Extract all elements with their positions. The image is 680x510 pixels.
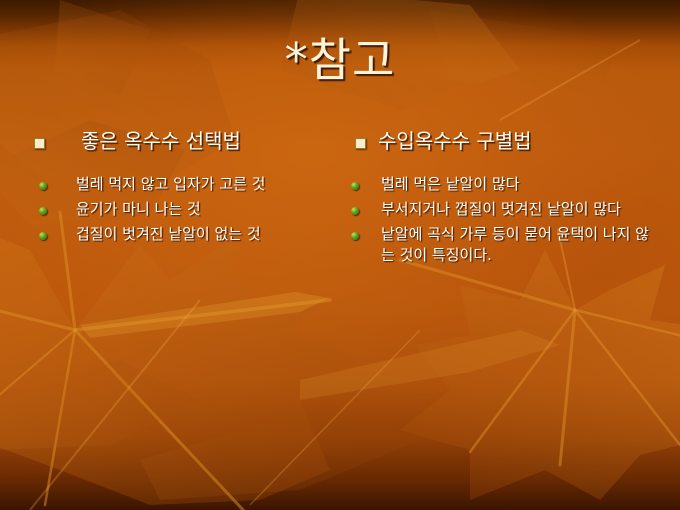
bullet-list-right: 벌레 먹은 낱알이 많다 부서지거나 껍질이 멋겨진 낱알이 많다 낱알에 곡식…: [345, 174, 657, 266]
content-column-left: 좋은 옥수수 선택법 벌레 먹지 않고 입자가 고른 것 윤기가 마니 나는 것…: [28, 126, 338, 249]
column-heading-right: 수입옥수수 구별법: [378, 126, 532, 156]
list-item-text: 벌레 먹은 낱알이 많다: [381, 174, 649, 195]
list-item: 벌레 먹은 낱알이 많다: [345, 174, 657, 195]
square-bullet-icon: [34, 138, 45, 149]
list-item-text: 낱알에 곡식 가루 등이 묻어 윤택이 나지 않는 것이 특징이다.: [381, 224, 649, 266]
column-heading-row-left: 좋은 옥수수 선택법: [28, 126, 338, 156]
list-item: 부서지거나 껍질이 멋겨진 낱알이 많다: [345, 199, 657, 220]
green-dot-bullet-icon: [39, 182, 47, 190]
green-dot-bullet-icon: [351, 232, 359, 240]
presentation-slide: *참고 좋은 옥수수 선택법 벌레 먹지 않고 입자가 고른 것 윤기가 마니 …: [0, 0, 680, 510]
green-dot-bullet-icon: [39, 232, 47, 240]
green-dot-bullet-icon: [351, 182, 359, 190]
green-dot-bullet-icon: [351, 207, 359, 215]
list-item: 겁질이 벗겨진 낱알이 없는 것: [28, 224, 338, 245]
list-item: 윤기가 마니 나는 것: [28, 199, 338, 220]
column-heading-row-right: 수입옥수수 구별법: [345, 126, 657, 156]
page-title: *참고: [0, 34, 680, 86]
list-item-text: 윤기가 마니 나는 것: [76, 199, 314, 220]
square-bullet-icon: [355, 138, 366, 149]
green-dot-bullet-icon: [39, 207, 47, 215]
list-item-text: 겁질이 벗겨진 낱알이 없는 것: [76, 224, 314, 245]
list-item: 벌레 먹지 않고 입자가 고른 것: [28, 174, 338, 195]
bullet-list-left: 벌레 먹지 않고 입자가 고른 것 윤기가 마니 나는 것 겁질이 벗겨진 낱알…: [28, 174, 338, 245]
content-column-right: 수입옥수수 구별법 벌레 먹은 낱알이 많다 부서지거나 껍질이 멋겨진 낱알이…: [345, 126, 657, 270]
list-item-text: 부서지거나 껍질이 멋겨진 낱알이 많다: [381, 199, 649, 220]
list-item: 낱알에 곡식 가루 등이 묻어 윤택이 나지 않는 것이 특징이다.: [345, 224, 657, 266]
list-item-text: 벌레 먹지 않고 입자가 고른 것: [76, 174, 314, 195]
column-heading-left: 좋은 옥수수 선택법: [81, 126, 241, 156]
